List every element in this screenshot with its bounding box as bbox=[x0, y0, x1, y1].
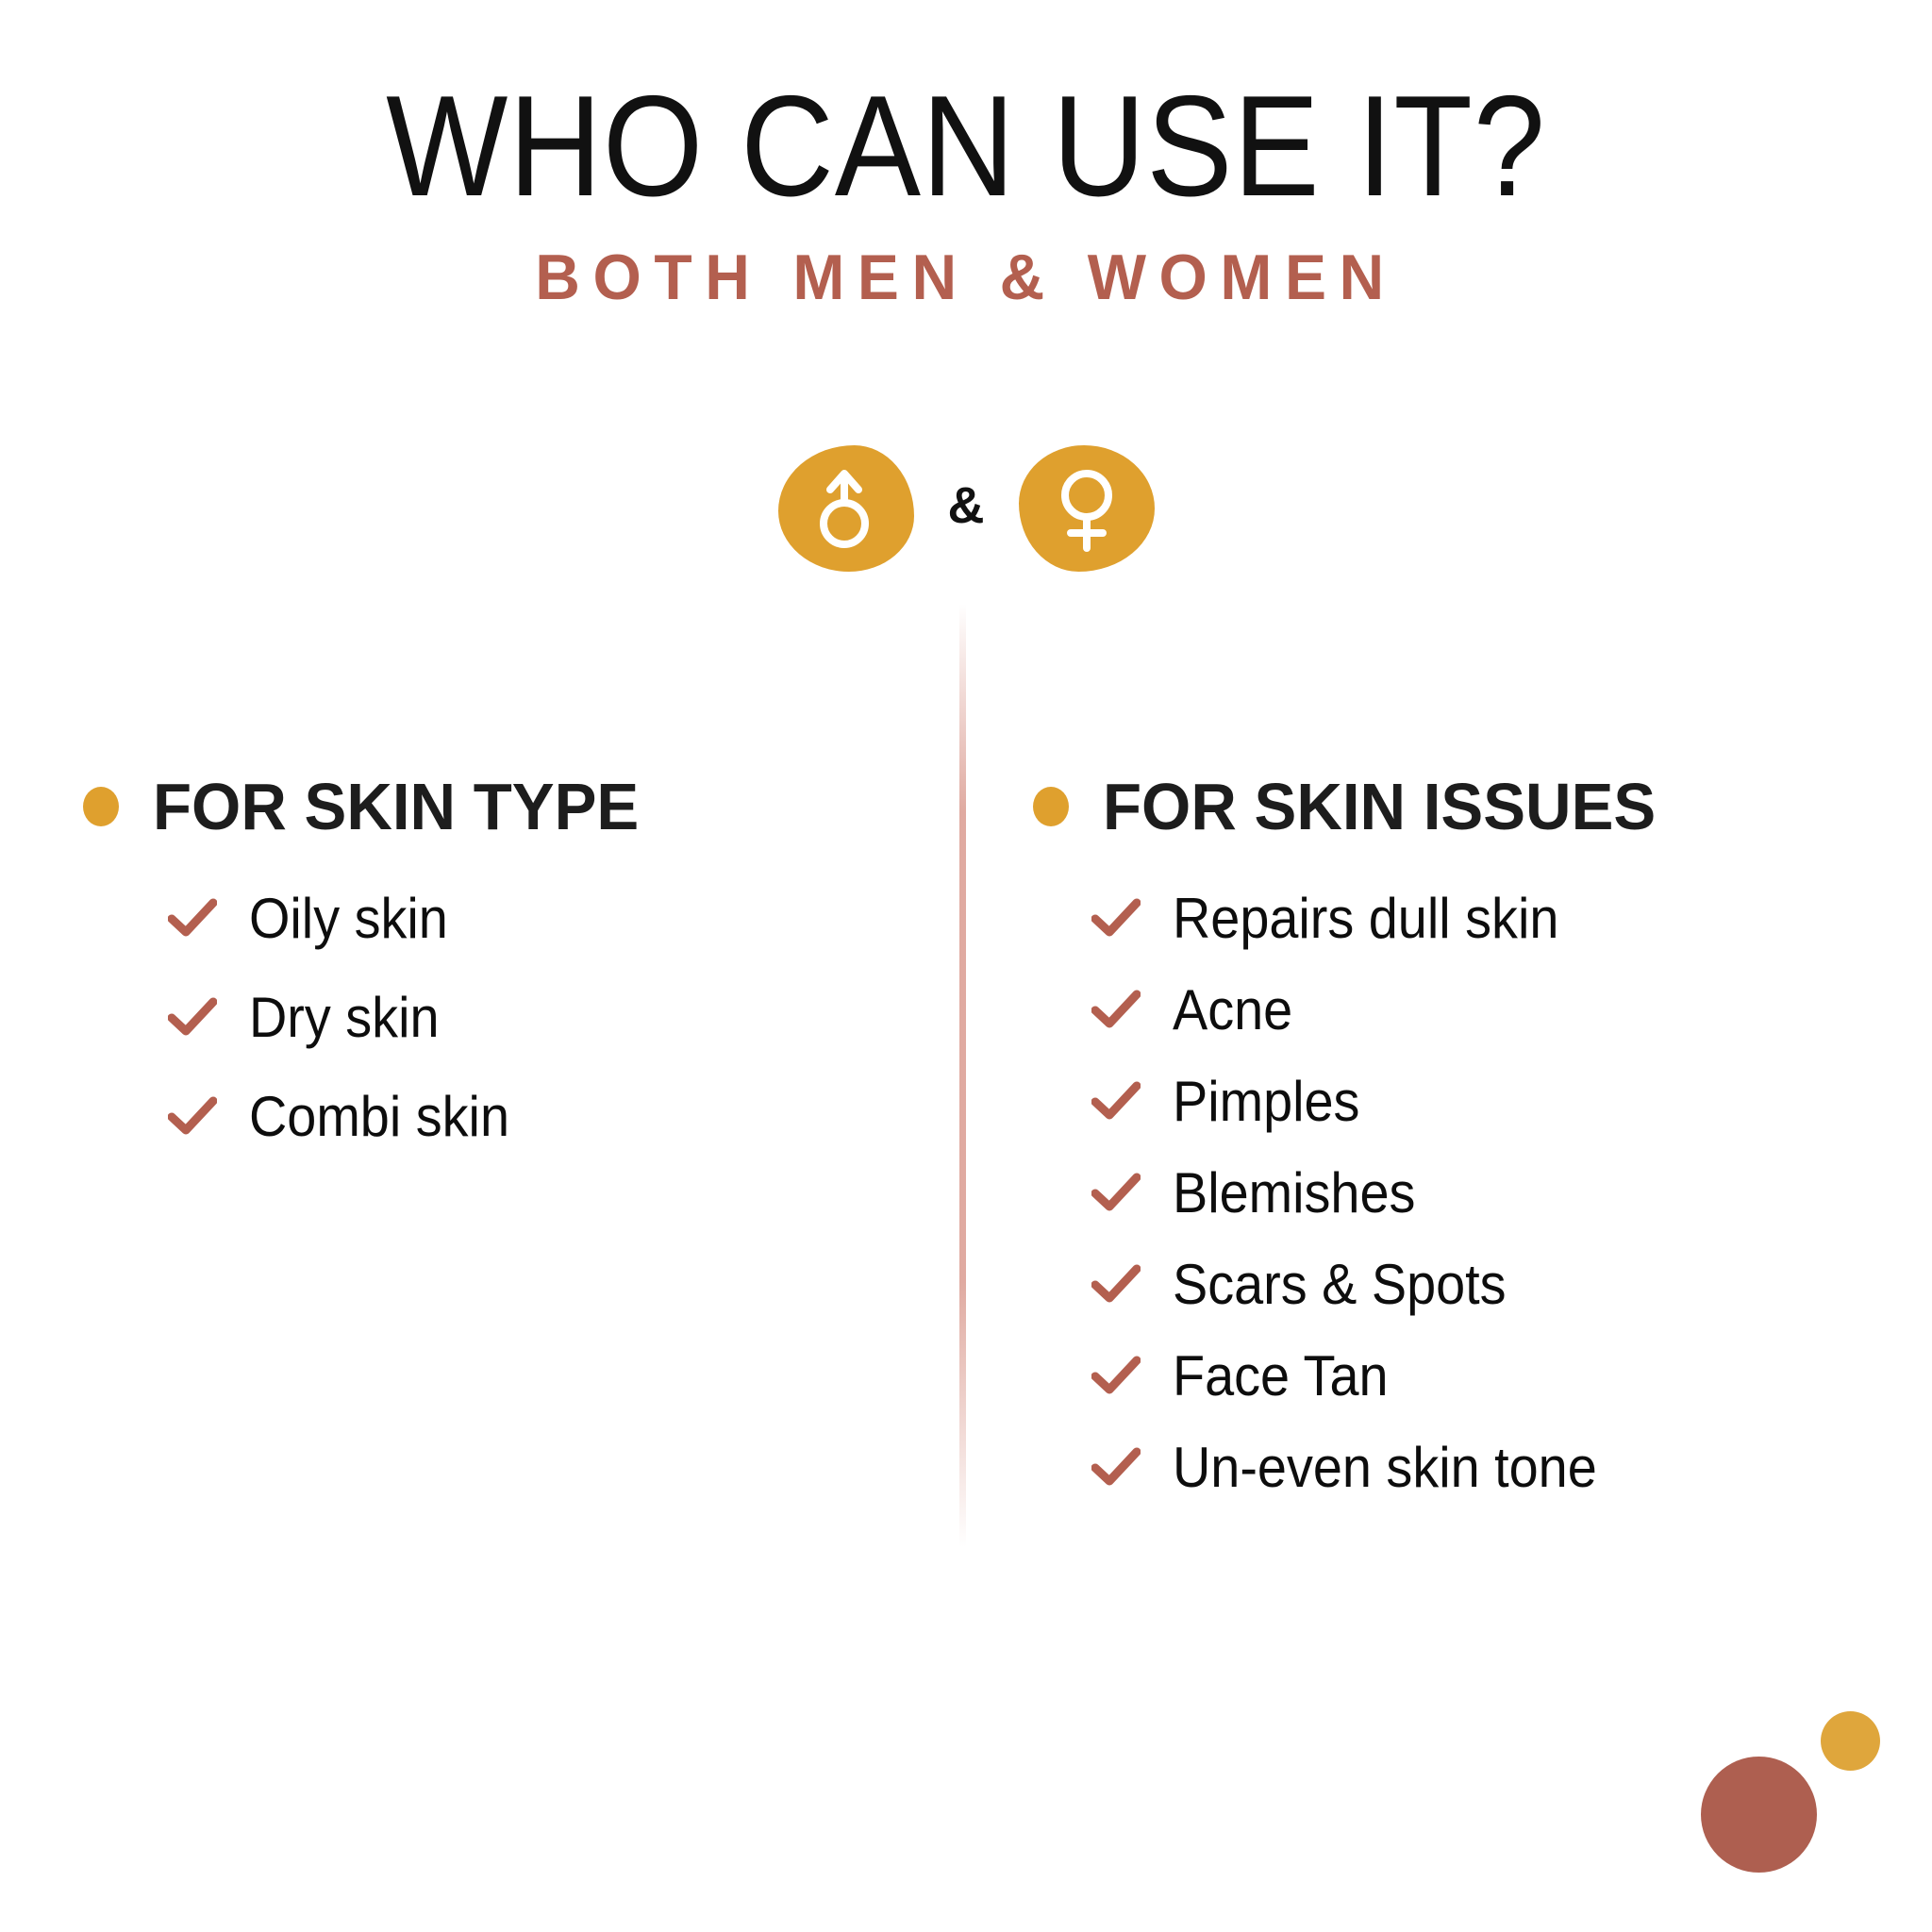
column-heading-skin-issues: FOR SKIN ISSUES bbox=[1033, 769, 1932, 844]
list-item-label: Face Tan bbox=[1173, 1343, 1389, 1408]
decor-circle-small bbox=[1821, 1711, 1880, 1771]
column-skin-issues: FOR SKIN ISSUES Repairs dull skin bbox=[959, 769, 1932, 1526]
check-icon bbox=[168, 894, 217, 943]
bullet-dot-icon bbox=[1033, 787, 1069, 826]
check-icon bbox=[168, 993, 217, 1042]
page-title: WHO CAN USE IT? bbox=[96, 74, 1835, 220]
list-item: Oily skin bbox=[83, 886, 959, 951]
list-item-label: Un-even skin tone bbox=[1173, 1435, 1597, 1500]
page-subtitle: BOTH MEN & WOMEN bbox=[29, 241, 1904, 314]
list-item-label: Dry skin bbox=[249, 985, 440, 1050]
gender-icon-row: & bbox=[0, 445, 1932, 572]
bullet-dot-icon bbox=[83, 787, 119, 826]
heading-label: FOR SKIN ISSUES bbox=[1103, 769, 1656, 844]
check-icon bbox=[1091, 1169, 1141, 1218]
list-item: Acne bbox=[1033, 977, 1932, 1042]
female-icon-badge bbox=[1019, 445, 1155, 572]
list-item-label: Scars & Spots bbox=[1173, 1252, 1507, 1317]
check-icon bbox=[1091, 1260, 1141, 1309]
decor-circle-large bbox=[1701, 1757, 1817, 1873]
male-icon-badge bbox=[778, 445, 914, 572]
list-item: Dry skin bbox=[83, 985, 959, 1050]
check-icon bbox=[1091, 1077, 1141, 1126]
list-skin-issues: Repairs dull skin Acne bbox=[1033, 886, 1932, 1500]
check-icon bbox=[1091, 1443, 1141, 1492]
column-skin-type: FOR SKIN TYPE Oily skin bbox=[0, 769, 959, 1526]
heading-label: FOR SKIN TYPE bbox=[153, 769, 639, 844]
check-icon bbox=[168, 1092, 217, 1141]
list-item: Blemishes bbox=[1033, 1160, 1932, 1225]
female-gender-icon bbox=[1049, 463, 1124, 554]
list-item-label: Oily skin bbox=[249, 886, 448, 951]
list-item-label: Blemishes bbox=[1173, 1160, 1415, 1225]
list-item-label: Combi skin bbox=[249, 1084, 509, 1149]
list-item: Repairs dull skin bbox=[1033, 886, 1932, 951]
male-gender-icon bbox=[808, 465, 884, 552]
header: WHO CAN USE IT? BOTH MEN & WOMEN bbox=[0, 74, 1932, 314]
list-item-label: Acne bbox=[1173, 977, 1292, 1042]
list-item: Face Tan bbox=[1033, 1343, 1932, 1408]
check-icon bbox=[1091, 894, 1141, 943]
column-heading-skin-type: FOR SKIN TYPE bbox=[83, 769, 959, 844]
list-item: Scars & Spots bbox=[1033, 1252, 1932, 1317]
check-icon bbox=[1091, 986, 1141, 1035]
check-icon bbox=[1091, 1352, 1141, 1401]
list-item: Combi skin bbox=[83, 1084, 959, 1149]
ampersand-label: & bbox=[948, 480, 985, 537]
content-columns: FOR SKIN TYPE Oily skin bbox=[0, 769, 1932, 1526]
list-item-label: Pimples bbox=[1173, 1069, 1359, 1134]
infographic-page: WHO CAN USE IT? BOTH MEN & WOMEN & bbox=[0, 0, 1932, 1932]
list-skin-type: Oily skin Dry skin bbox=[83, 886, 959, 1149]
list-item: Pimples bbox=[1033, 1069, 1932, 1134]
list-item: Un-even skin tone bbox=[1033, 1435, 1932, 1500]
list-item-label: Repairs dull skin bbox=[1173, 886, 1558, 951]
